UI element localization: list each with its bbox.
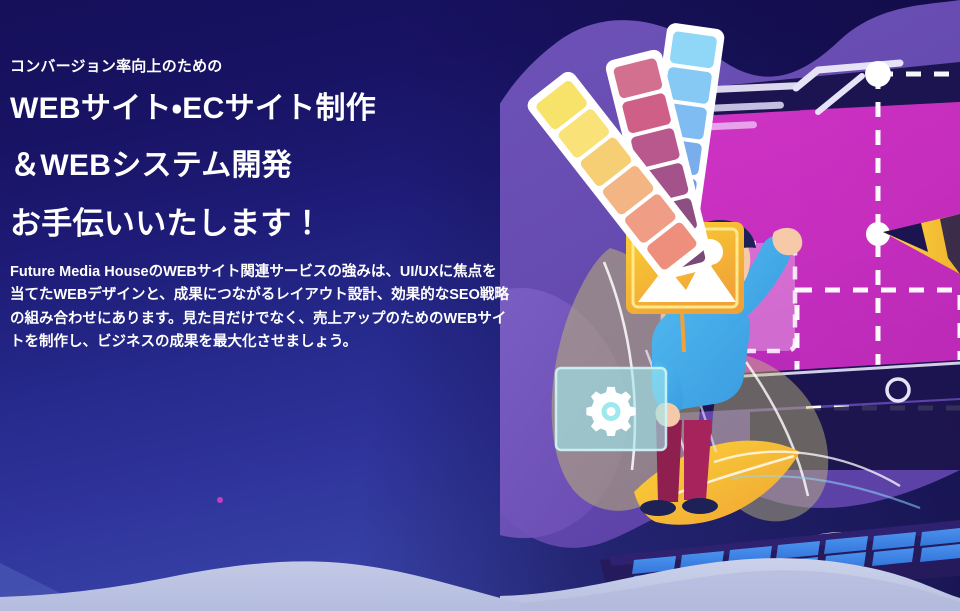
node-handle-top bbox=[865, 61, 891, 87]
gear-panel bbox=[556, 368, 666, 450]
hero-headline-line-1: WEBサイト・ECサイト制作 bbox=[10, 94, 522, 124]
magenta-speck bbox=[217, 497, 223, 503]
node-handle-bottom bbox=[866, 222, 890, 246]
hero-copy: コンバージョン率向上のための WEBサイト・ECサイト制作 ＆WEBシステム開発… bbox=[10, 58, 522, 355]
hero-eyebrow: コンバージョン率向上のための bbox=[10, 58, 522, 76]
gear-icon bbox=[586, 387, 635, 436]
image-card-stand bbox=[682, 314, 684, 352]
hero-headline-line-2: ＆WEBシステム開発 bbox=[10, 151, 522, 181]
wave-light-band bbox=[0, 561, 520, 611]
hero-banner: コンバージョン率向上のための WEBサイト・ECサイト制作 ＆WEBシステム開発… bbox=[0, 0, 960, 611]
hero-body-text: Future Media HouseのWEBサイト関連サービスの強みは、UI/U… bbox=[10, 261, 510, 355]
hero-headline-line-3: お手伝いいたします！ bbox=[10, 208, 522, 239]
bottom-wave bbox=[0, 491, 960, 611]
